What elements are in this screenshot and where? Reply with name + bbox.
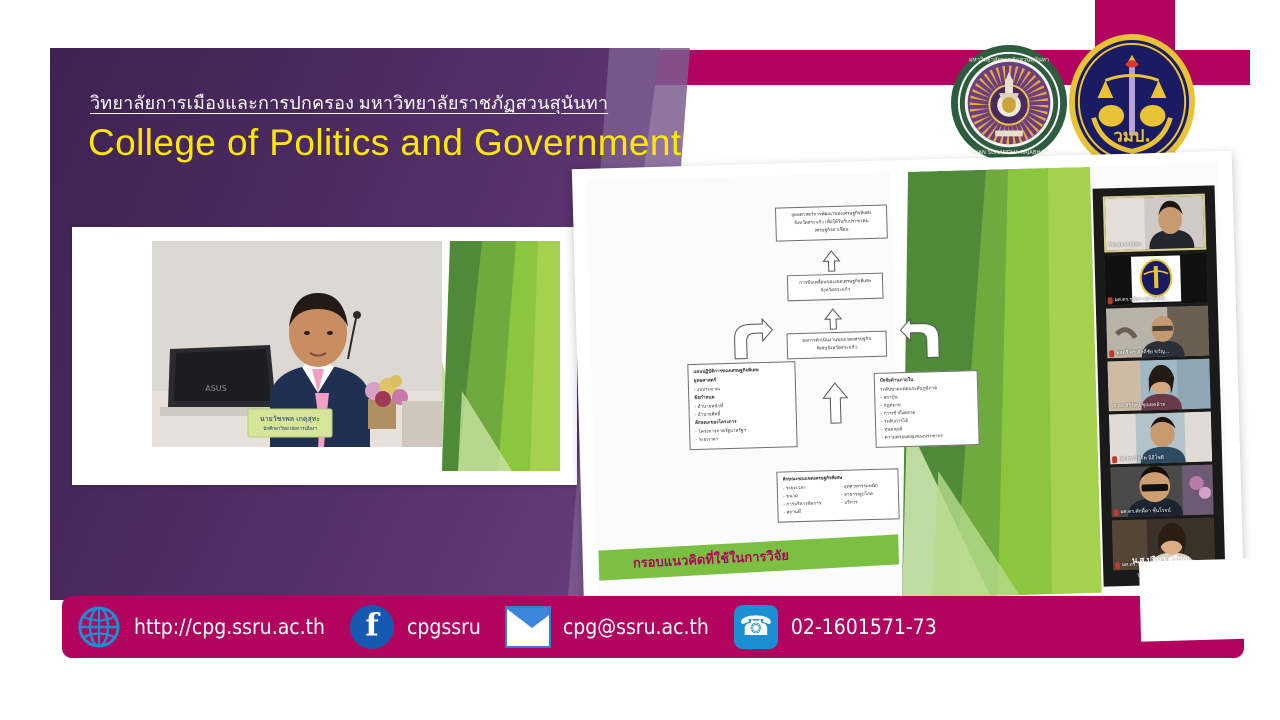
mic-muted-icon	[1114, 509, 1119, 516]
svg-text:วมป.: วมป.	[1113, 125, 1150, 145]
arrow-up-1	[822, 250, 841, 272]
participant-tile[interactable]: วัชรพล เกตุสุทะ	[1103, 194, 1207, 253]
facebook-icon	[349, 604, 395, 650]
email-address[interactable]: cpg@ssru.ac.th	[563, 615, 709, 639]
slide-corner-overlap	[1139, 558, 1259, 641]
mic-muted-icon	[1112, 456, 1117, 463]
arrow-curve-right	[898, 317, 943, 362]
green-fan-decoration	[442, 241, 560, 471]
page-title-english: College of Politics and Government	[88, 122, 688, 164]
svg-text:นายวัชรพล เกตุสุทะ: นายวัชรพล เกตุสุทะ	[260, 415, 320, 423]
svg-text:มหาวิทยาลัยราชภัฏสวนสุนันทา: มหาวิทยาลัยราชภัฏสวนสุนันทา	[969, 56, 1049, 64]
slide-content: ยุทธศาสตร์การพัฒนาของเศรษฐกิจพิเศษ จังหว…	[586, 163, 1230, 606]
svg-text:ASUS: ASUS	[205, 384, 226, 393]
arrow-up-2	[824, 308, 843, 330]
page-title-thai: วิทยาลัยการเมืองและการปกครอง มหาวิทยาลัย…	[90, 88, 650, 117]
photo-inner: ASUS	[92, 241, 560, 471]
diagram-box-results: ผลการดำเนินงานของเขตเศรษฐกิจ พิเศษจังหวั…	[786, 331, 887, 360]
contact-facebook[interactable]: cpgssru	[349, 604, 505, 650]
participant-tile[interactable]: รศ.ดร.ศิริรัตน์ ชุณหคล้าย	[1107, 359, 1210, 412]
phone-number[interactable]: 02-1601571-73	[791, 615, 937, 639]
diagram-box-driving: การขับเคลื่อนของเขตเศรษฐกิจพิเศษ จังหวัด…	[787, 273, 884, 302]
diagram-box-internal-factors: ปัจจัยด้านภายใน ระดับขาดแคลนระดับภูมิภาค…	[874, 370, 980, 448]
photo-card: ASUS	[72, 227, 577, 485]
ssru-seal-logo: มหาวิทยาลัยราชภัฏสวนสุนันทา SUAN SUNANDH…	[950, 40, 1068, 166]
globe-icon	[76, 604, 122, 650]
contact-list: http://cpg.ssru.ac.th cpgssru cpg@ssru.a…	[62, 596, 961, 658]
svg-text:นักศึกษาวิทยาลัยการเมืองฯ: นักศึกษาวิทยาลัยการเมืองฯ	[263, 425, 317, 432]
facebook-handle[interactable]: cpgssru	[407, 615, 481, 639]
contact-phone[interactable]: 02-1601571-73	[733, 604, 961, 650]
diagram-box-sez-traits: ลักษณะของเขตเศรษฐกิจพิเศษ - ระยะเวลา - ข…	[776, 468, 899, 523]
mic-muted-icon	[1109, 350, 1114, 357]
diagram-box-goal: ยุทธศาสตร์การพัฒนาของเศรษฐกิจพิเศษ จังหว…	[775, 205, 888, 242]
phone-icon	[733, 604, 779, 650]
cpg-crest-logo: วมป. วิทยาลัยการเมืองและการปกครอง	[1068, 32, 1196, 172]
arrow-curve-left	[730, 318, 775, 363]
participant-tile[interactable]: ผศ.ดร.มั่นจิต นิธิโชติ	[1109, 412, 1212, 465]
video-filmstrip: วัชรพล เกตุสุทะ ผศ.ดร.ชุติมา คล้ายสังข์.…	[1093, 185, 1226, 586]
arrow-up-3	[822, 382, 849, 425]
website-url[interactable]: http://cpg.ssru.ac.th	[134, 615, 325, 639]
contact-website[interactable]: http://cpg.ssru.ac.th	[76, 604, 349, 650]
mail-icon	[505, 604, 551, 650]
diagram-box-action-plan: แผนปฏิบัติการของเศรษฐกิจพิเศษ ยุทธศาสตร์…	[687, 361, 797, 450]
participant-tile[interactable]: พลตรี ดร.ศักดิ์ชัย ขวัญ...	[1106, 306, 1209, 359]
contact-email[interactable]: cpg@ssru.ac.th	[505, 604, 733, 650]
contact-footer: http://cpg.ssru.ac.th cpgssru cpg@ssru.a…	[62, 596, 1244, 658]
svg-text:SUAN SUNANDHA RAJABHAT: SUAN SUNANDHA RAJABHAT	[971, 150, 1048, 156]
slide-canvas: วิทยาลัยการเมืองและการปกครอง มหาวิทยาลัย…	[0, 0, 1280, 720]
speaker-photo: ASUS	[152, 241, 442, 447]
participant-tile[interactable]: ผศ.ดร.ศักดิ์ดา ชั้นโรจน์	[1110, 465, 1213, 518]
presentation-slide: ยุทธศาสตร์การพัฒนาของเศรษฐกิจพิเศษ จังหว…	[572, 151, 1244, 621]
mic-muted-icon	[1108, 297, 1113, 304]
participant-tile[interactable]: ผศ.ดร.ชุติมา คล้ายสังข์...	[1104, 253, 1207, 306]
